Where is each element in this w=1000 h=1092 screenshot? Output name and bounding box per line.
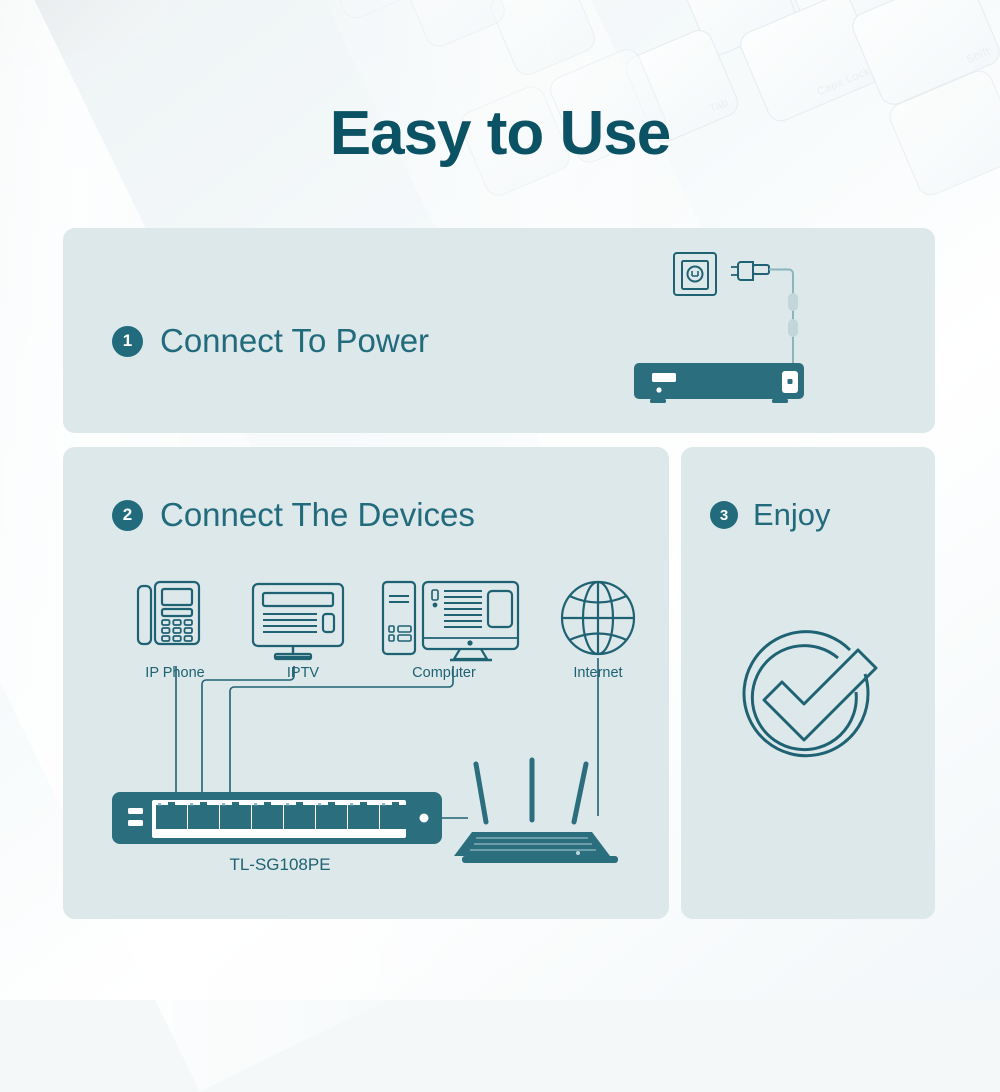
background-key-label: Caps Lock [815, 65, 872, 98]
port-number: 2 [201, 830, 205, 837]
step-1-number-badge: 1 [112, 326, 143, 357]
wall-outlet-icon [674, 253, 716, 295]
step-2-illustration: 1 2 3 4 5 6 7 8 [108, 570, 648, 875]
wireless-router-icon [454, 760, 618, 863]
step-3-title: Enjoy [753, 497, 831, 533]
step-3-number-badge: 3 [710, 501, 738, 529]
device-label-computer: Computer [388, 665, 500, 681]
step-3-illustration [728, 622, 888, 792]
port-number: 5 [297, 830, 301, 837]
step-3-heading: 3 Enjoy [710, 497, 831, 533]
power-plug-icon [731, 262, 769, 280]
ip-phone-icon [138, 582, 199, 644]
step-2-title: Connect The Devices [160, 496, 475, 534]
port-number: 7 [361, 830, 365, 837]
checkmark-circle-icon [744, 632, 876, 756]
device-label-internet: Internet [543, 665, 653, 681]
step-1-heading: 1 Connect To Power [112, 322, 429, 360]
step-2-heading: 2 Connect The Devices [112, 496, 475, 534]
device-label-ip-phone: IP Phone [120, 665, 230, 681]
port-number: 3 [233, 830, 237, 837]
port-number: 4 [265, 830, 269, 837]
television-icon [253, 584, 343, 659]
background-key-label: Shift [965, 46, 992, 67]
network-switch-front: 1 2 3 4 5 6 7 8 [112, 792, 442, 844]
cable-ferrite-2 [788, 319, 798, 337]
switch-rear-panel [634, 363, 804, 403]
step-1-illustration [630, 245, 850, 425]
device-label-iptv: IPTV [248, 665, 358, 681]
step-1-title: Connect To Power [160, 322, 429, 360]
page-title: Easy to Use [0, 98, 1000, 169]
cable-ferrite-1 [788, 293, 798, 311]
port-number: 6 [329, 830, 333, 837]
port-number: 1 [169, 830, 173, 837]
globe-icon [562, 582, 634, 654]
step-2-number-badge: 2 [112, 500, 143, 531]
port-number: 8 [393, 830, 397, 837]
switch-model-label: TL-SG108PE [190, 855, 370, 875]
desktop-computer-icon [383, 582, 518, 660]
